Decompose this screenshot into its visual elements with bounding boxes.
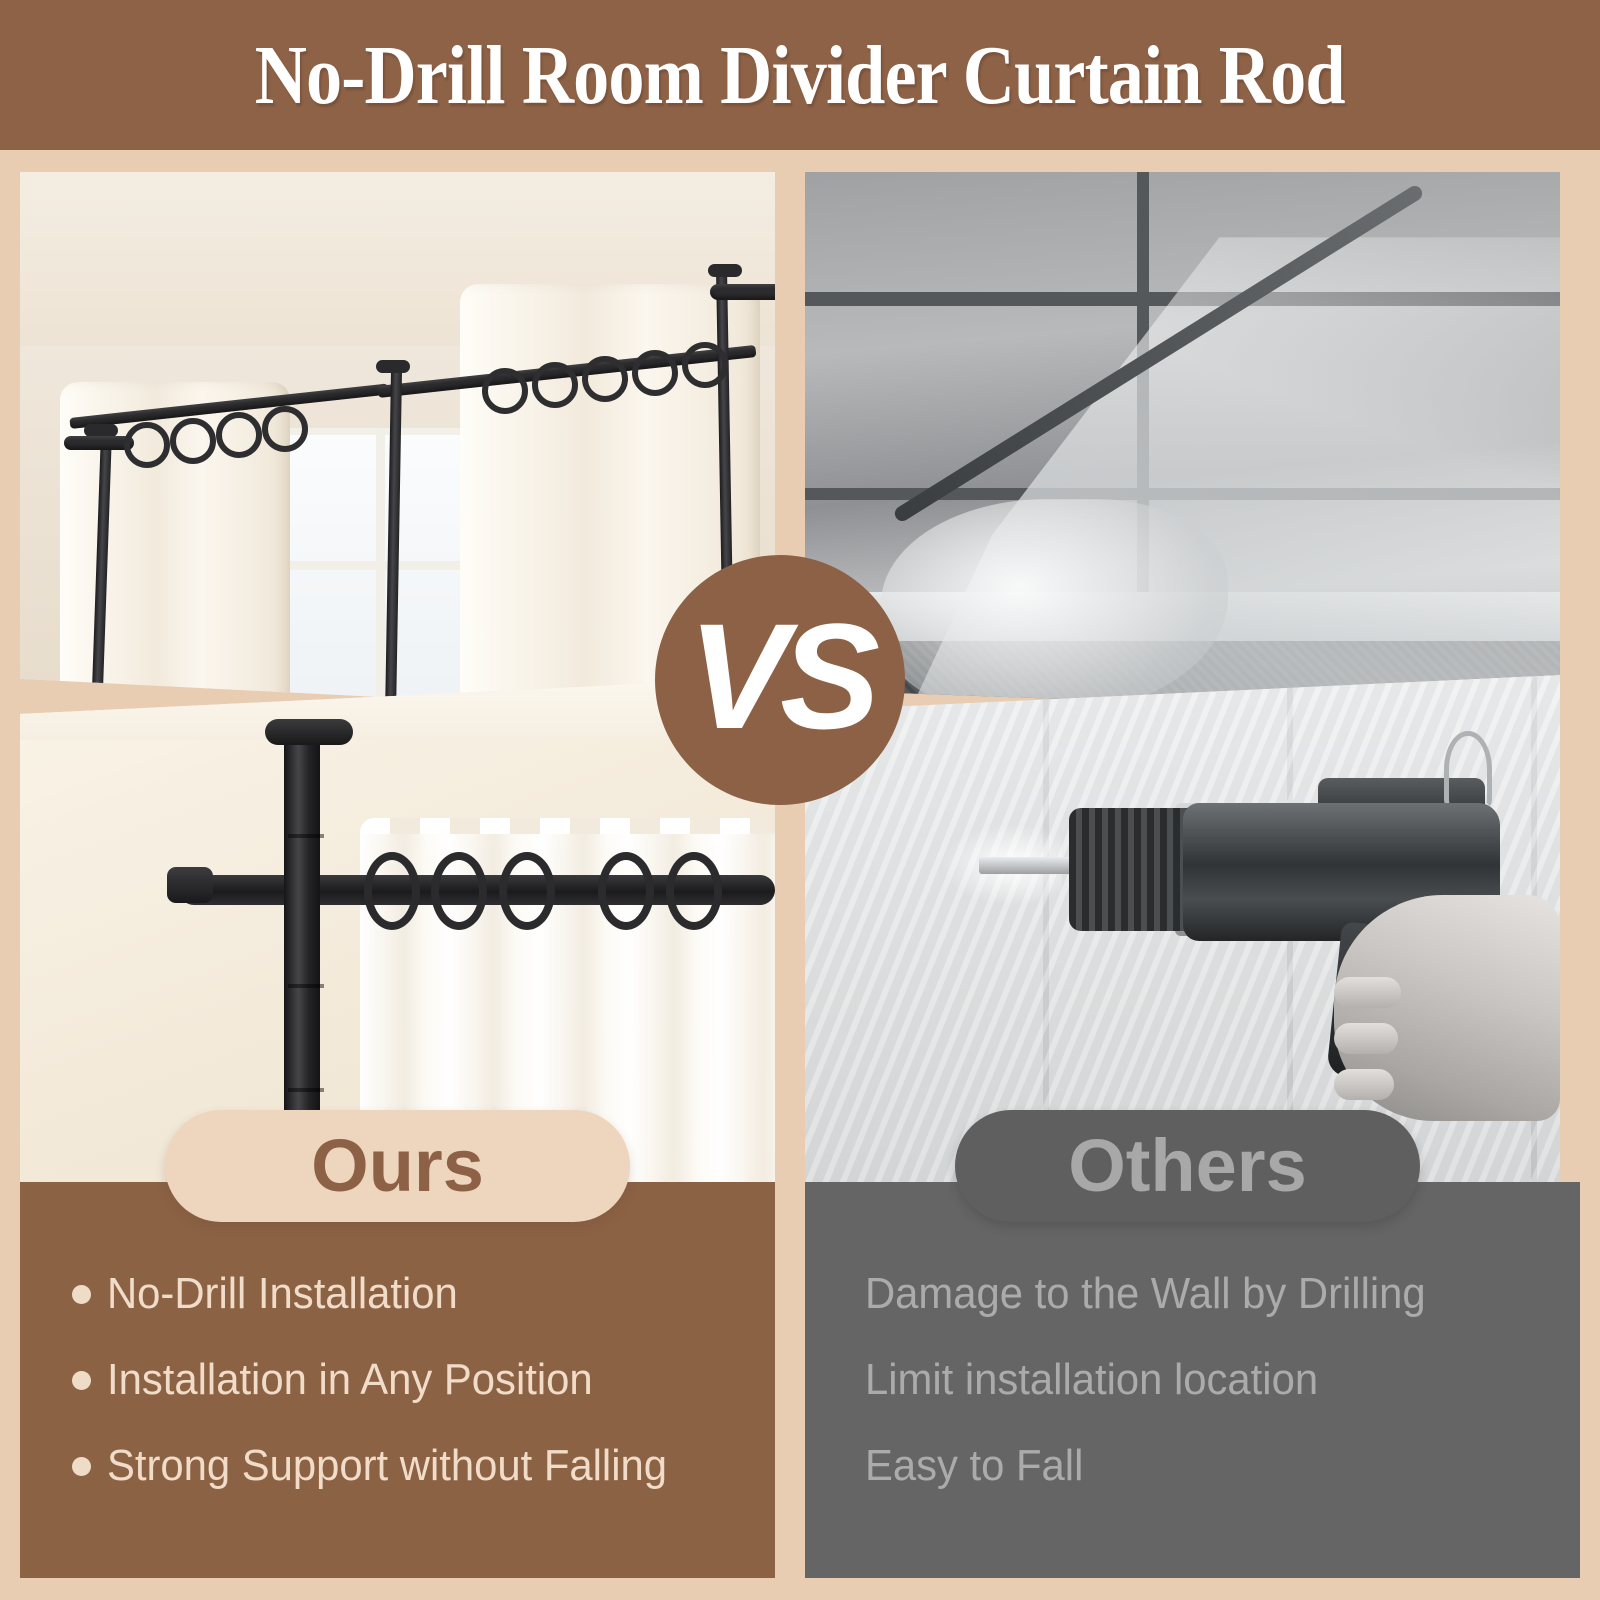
ours-label-text: Ours — [311, 1129, 484, 1203]
ours-benefit-text: No-Drill Installation — [107, 1272, 458, 1316]
photo-fallen-sheer-curtain-grayscale — [805, 172, 1560, 717]
photo-closeup-ceiling-mount-tension-rod — [20, 662, 775, 1182]
vs-badge-label: VS — [688, 601, 872, 751]
others-label-pill: Others — [955, 1110, 1420, 1222]
list-item: Strong Support without Falling — [20, 1423, 775, 1509]
list-item: Damage to the Wall by Drilling — [805, 1251, 1580, 1337]
others-drawback-text: Damage to the Wall by Drilling — [865, 1272, 1426, 1316]
infographic-canvas: No-Drill Room Divider Curtain Rod — [0, 0, 1600, 1600]
header-banner: No-Drill Room Divider Curtain Rod — [0, 0, 1600, 150]
others-label-text: Others — [1068, 1129, 1307, 1203]
ours-benefit-text: Strong Support without Falling — [107, 1444, 667, 1488]
ours-benefit-text: Installation in Any Position — [107, 1358, 593, 1402]
others-drawback-text: Limit installation location — [865, 1358, 1318, 1402]
bullet-dot-icon — [72, 1457, 91, 1476]
others-photo-column — [805, 172, 1560, 1182]
others-drawback-text: Easy to Fall — [865, 1444, 1083, 1488]
photo-hand-drilling-tile-wall-grayscale — [805, 670, 1560, 1182]
list-item: Installation in Any Position — [20, 1337, 775, 1423]
photo-room-divider-curtains-on-tension-rods — [20, 172, 775, 717]
list-item: Limit installation location — [805, 1337, 1580, 1423]
others-drawbacks-panel: Damage to the Wall by Drilling Limit ins… — [805, 1182, 1580, 1578]
others-drawbacks-list: Damage to the Wall by Drilling Limit ins… — [805, 1182, 1580, 1578]
bullet-dot-icon — [72, 1285, 91, 1304]
list-item: Easy to Fall — [805, 1423, 1580, 1509]
vs-badge: VS — [655, 555, 905, 805]
page-title: No-Drill Room Divider Curtain Rod — [255, 27, 1345, 124]
bullet-dot-icon — [72, 1371, 91, 1390]
ours-benefits-list: No-Drill Installation Installation in An… — [20, 1182, 775, 1578]
ours-benefits-panel: No-Drill Installation Installation in An… — [20, 1182, 775, 1578]
ours-label-pill: Ours — [165, 1110, 630, 1222]
list-item: No-Drill Installation — [20, 1251, 775, 1337]
